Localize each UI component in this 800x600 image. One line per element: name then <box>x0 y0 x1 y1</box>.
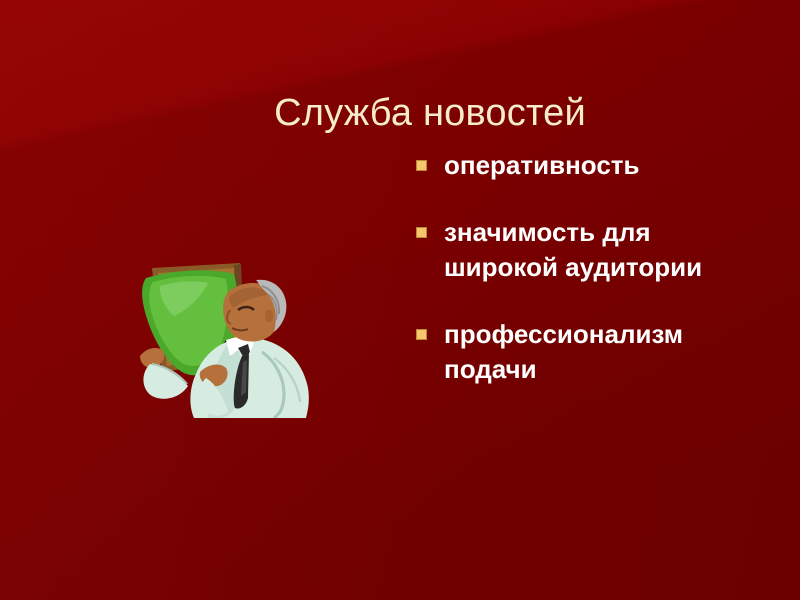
presenter-head <box>223 280 286 342</box>
list-item: профессионализм подачи <box>412 317 768 387</box>
presentation-slide: Служба новостей оперативность значимость… <box>0 0 800 600</box>
bullet-list: оперативность значимость для широкой ауд… <box>412 148 768 387</box>
list-item: оперативность <box>412 148 768 183</box>
slide-title: Служба новостей <box>120 89 740 137</box>
presenter-clipart-image <box>122 252 314 418</box>
square-bullet-icon <box>416 160 427 171</box>
bullet-item-label: оперативность <box>444 148 768 183</box>
list-item: значимость для широкой аудитории <box>412 215 768 285</box>
bullet-item-label: значимость для широкой аудитории <box>444 215 768 285</box>
square-bullet-icon <box>416 329 427 340</box>
bullet-item-label: профессионализм подачи <box>444 317 768 387</box>
square-bullet-icon <box>416 227 427 238</box>
